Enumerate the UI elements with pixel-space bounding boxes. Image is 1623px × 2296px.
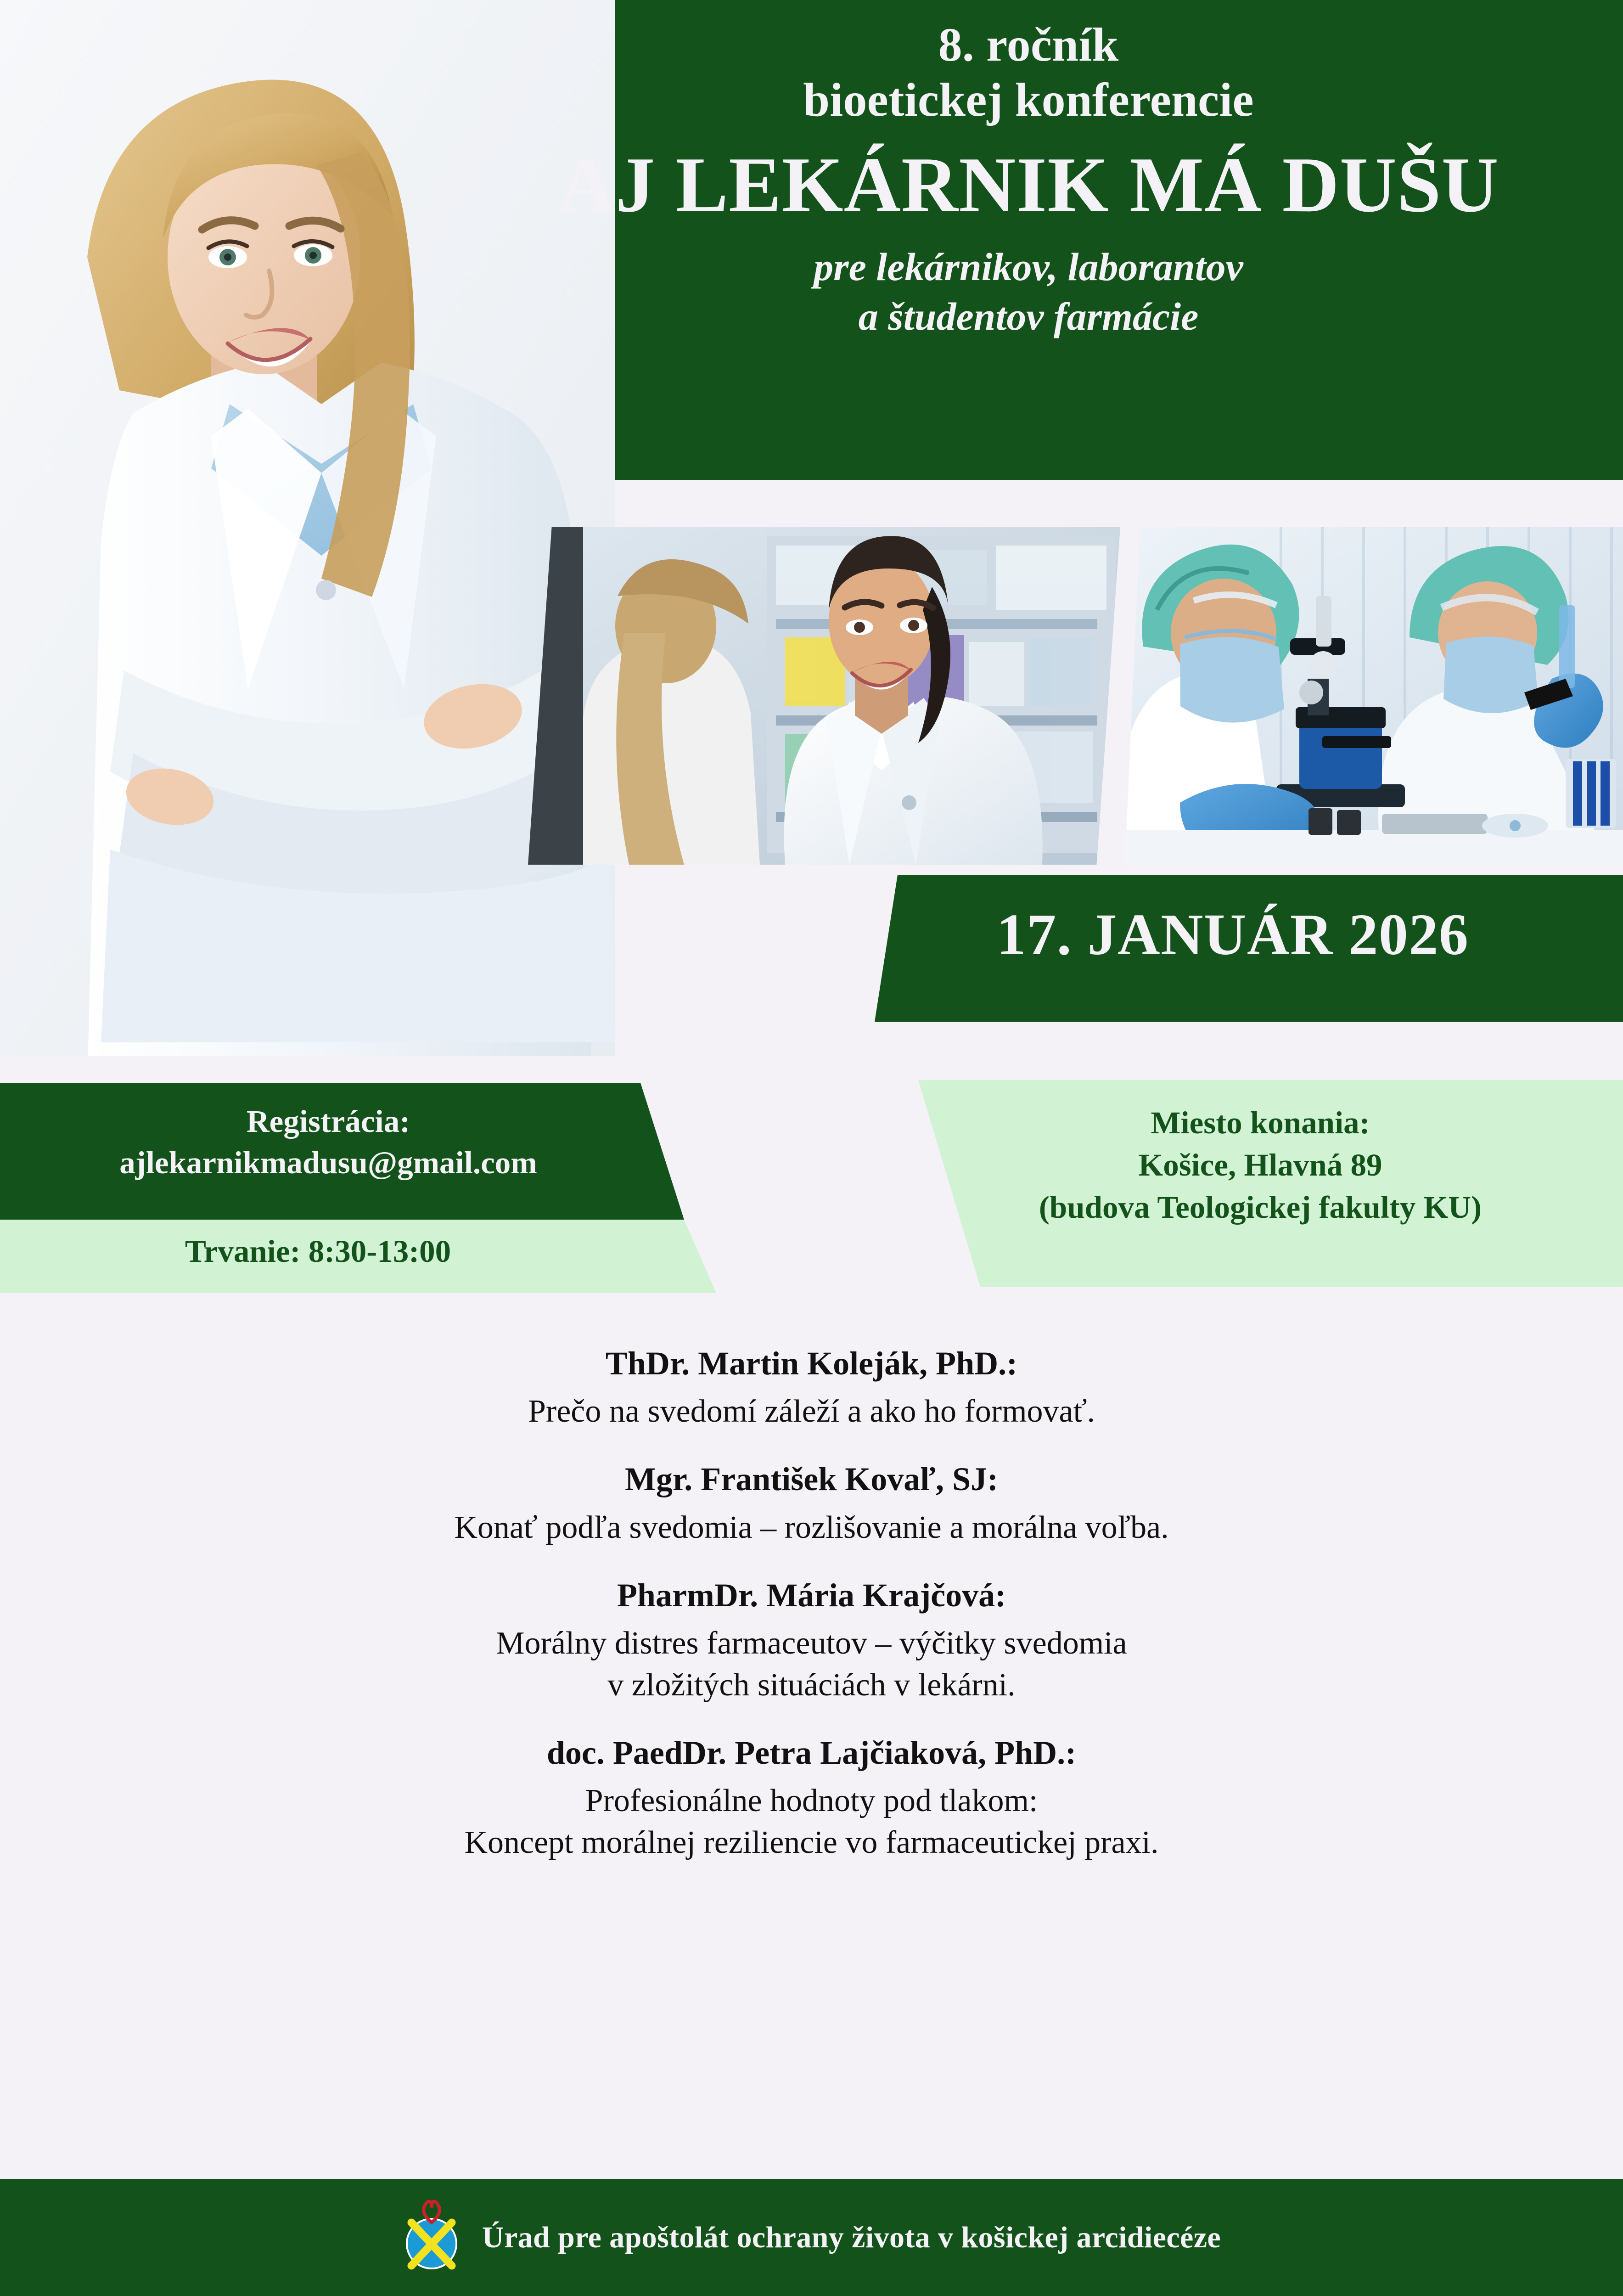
speaker-block-3: PharmDr. Mária Krajčová: Morálny distres… (138, 1575, 1485, 1706)
poster-root: 8. ročník bioetickej konferencie AJ LEKÁ… (0, 0, 1623, 2296)
audience-line1: pre lekárnikov, laborantov (464, 242, 1593, 292)
venue-text-group: Miesto konania: Košice, Hlavná 89 (budov… (914, 1102, 1607, 1228)
speaker-block-4: doc. PaedDr. Petra Lajčiaková, PhD.: Pro… (138, 1733, 1485, 1863)
organizer-name: Úrad pre apoštolát ochrany života v koši… (482, 2220, 1221, 2255)
conference-kicker-line1: 8. ročník (464, 17, 1593, 73)
speaker-name: Mgr. František Kovaľ, SJ: (138, 1459, 1485, 1500)
laboratory-photo (1125, 527, 1623, 865)
registration-email[interactable]: ajlekarnikmadusu@gmail.com (0, 1142, 657, 1184)
pharmacy-consultation-photo (528, 527, 1120, 865)
speakers-list: ThDr. Martin Koleják, PhD.: Prečo na sve… (138, 1343, 1485, 1890)
duration-text: Trvanie: 8:30-13:00 (0, 1233, 636, 1270)
footer-content: Úrad pre apoštolát ochrany života v koši… (402, 2199, 1221, 2277)
venue-label: Miesto konania: (914, 1102, 1607, 1144)
speaker-name: PharmDr. Mária Krajčová: (138, 1575, 1485, 1616)
venue-building: (budova Teologickej fakulty KU) (914, 1187, 1607, 1229)
speaker-talk-line: Konať podľa svedomia – rozlišovanie a mo… (138, 1507, 1485, 1548)
audience-line2: a študentov farmácie (464, 292, 1593, 341)
pro-life-heart-cross-logo-icon (402, 2199, 461, 2277)
speaker-talk-line: Profesionálne hodnoty pod tlakom: (138, 1780, 1485, 1822)
header-text-group: 8. ročník bioetickej konferencie AJ LEKÁ… (464, 17, 1593, 342)
pharmacy-consultation-illustration (528, 527, 1120, 865)
speaker-block-1: ThDr. Martin Koleják, PhD.: Prečo na sve… (138, 1343, 1485, 1432)
registration-text-group: Registrácia: ajlekarnikmadusu@gmail.com (0, 1101, 657, 1183)
speaker-talk-line: Prečo na svedomí záleží a ako ho formova… (138, 1390, 1485, 1432)
speaker-block-2: Mgr. František Kovaľ, SJ: Konať podľa sv… (138, 1459, 1485, 1548)
speaker-name: doc. PaedDr. Petra Lajčiaková, PhD.: (138, 1733, 1485, 1773)
footer-bar: Úrad pre apoštolát ochrany života v koši… (0, 2179, 1623, 2296)
speaker-talk-line: Morálny distres farmaceutov – výčitky sv… (138, 1622, 1485, 1664)
page-title: AJ LEKÁRNIK MÁ DUŠU (464, 143, 1593, 228)
speaker-talk-line: v zložitých situáciách v lekárni. (138, 1664, 1485, 1706)
laboratory-illustration (1125, 527, 1623, 865)
speaker-name: ThDr. Martin Koleják, PhD.: (138, 1343, 1485, 1384)
speaker-talk-line: Koncept morálnej reziliencie vo farmaceu… (138, 1822, 1485, 1863)
registration-label: Registrácia: (0, 1101, 657, 1142)
venue-address: Košice, Hlavná 89 (914, 1144, 1607, 1187)
conference-kicker-line2: bioetickej konferencie (464, 73, 1593, 128)
event-date: 17. JANUÁR 2026 (872, 901, 1593, 968)
